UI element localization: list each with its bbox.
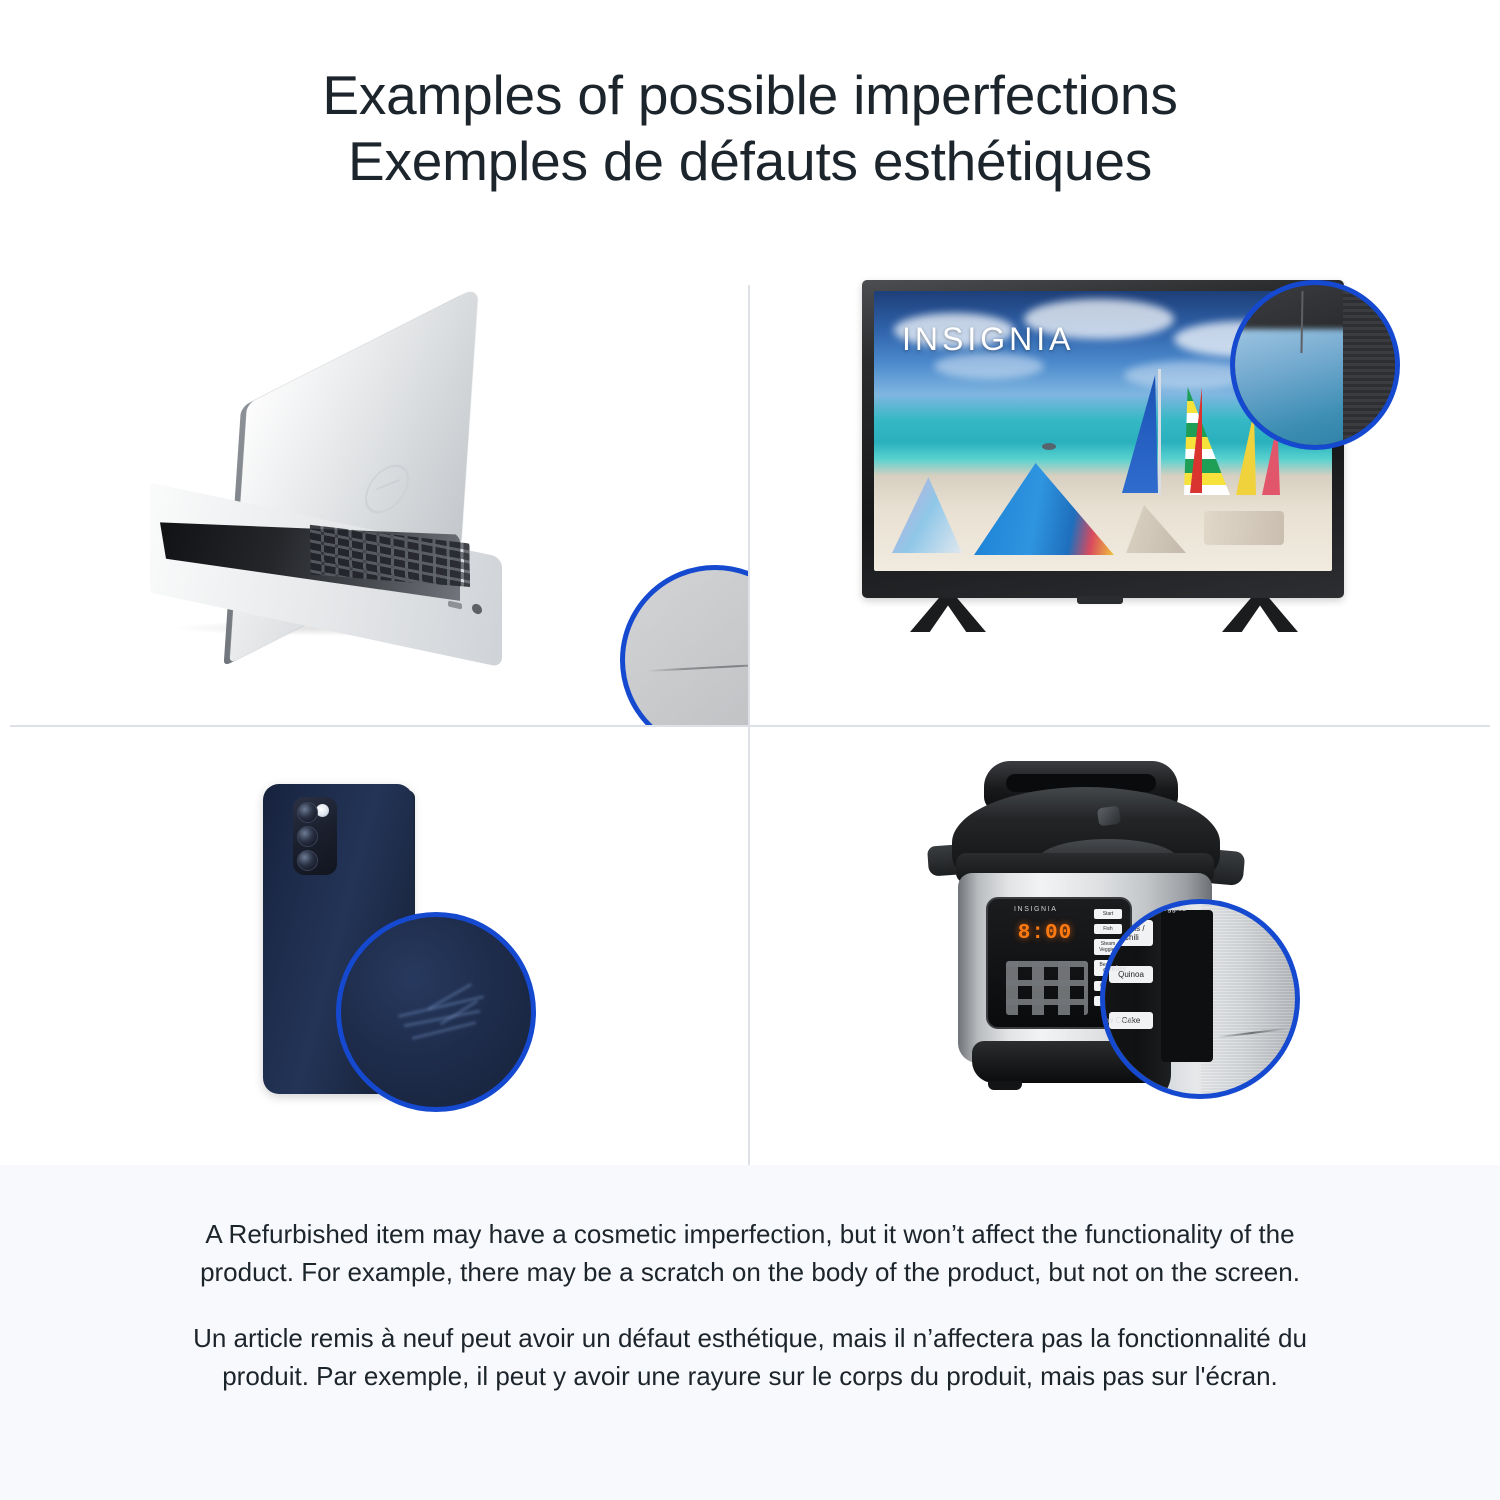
tv-magnified-screen xyxy=(1230,329,1349,450)
cooker-magnified-button[interactable]: Beans / Chili xyxy=(1109,920,1153,946)
cooker-pressure-valve-icon xyxy=(1097,806,1121,827)
page-title-en: Examples of possible imperfections xyxy=(322,62,1177,128)
page-title-fr: Exemples de défauts esthétiques xyxy=(348,128,1152,194)
phone-camera-lens xyxy=(297,802,318,823)
tv-illustration: INSIGNIA xyxy=(862,280,1362,660)
magnifier-circle-phone xyxy=(336,912,536,1112)
phone-illustration xyxy=(243,784,503,1114)
example-tile-cooker: INSIGNIA 8:00 Start Fish Steam Veggies B… xyxy=(752,729,1500,1165)
example-tile-tv: INSIGNIA xyxy=(752,250,1500,725)
magnifier-circle-cooker: Beans / Chili Quinoa Cake Veggies Delay … xyxy=(1100,899,1300,1099)
cooker-illustration: INSIGNIA 8:00 Start Fish Steam Veggies B… xyxy=(922,749,1282,1119)
description-paragraph-fr: Un article remis à neuf peut avoir un dé… xyxy=(185,1319,1315,1395)
tv-beach-object xyxy=(1126,505,1186,553)
magnifier-circle-laptop xyxy=(620,565,748,725)
cooker-brand-text: INSIGNIA xyxy=(1014,906,1058,913)
cooker-foot xyxy=(988,1081,1022,1090)
example-tile-laptop xyxy=(0,250,748,725)
cooker-magnified-button-strip xyxy=(1161,910,1213,1062)
tv-sail-blue xyxy=(1122,375,1158,493)
phone-camera-module xyxy=(293,797,337,875)
cooker-magnified-brushed-steel xyxy=(1201,904,1300,1099)
page-header: Examples of possible imperfections Exemp… xyxy=(0,0,1500,250)
cooker-magnified-label: Veggies xyxy=(1149,904,1195,913)
cooker-button-grid xyxy=(1006,961,1088,1015)
tv-stand-foot-right xyxy=(1222,598,1298,632)
tv-tent-left xyxy=(892,477,962,553)
grid-divider-horizontal xyxy=(10,725,1490,727)
tv-horizon-boat xyxy=(1042,443,1056,450)
infographic-page: Examples of possible imperfections Exemp… xyxy=(0,0,1500,1500)
cooker-magnified-label: Delay xyxy=(1100,964,1139,973)
phone-camera-lens xyxy=(297,850,318,871)
tv-magnified-bezel-corner xyxy=(1343,291,1400,450)
description-paragraph-en: A Refurbished item may have a cosmetic i… xyxy=(185,1215,1315,1291)
tv-logo-badge xyxy=(1077,596,1123,604)
examples-grid: INSIGNIA xyxy=(0,250,1500,1165)
tv-screen-brand-text: INSIGNIA xyxy=(902,321,1074,358)
cooker-magnified-label: Slow Cook xyxy=(1100,1016,1143,1025)
description-footer: A Refurbished item may have a cosmetic i… xyxy=(0,1165,1500,1500)
phone-camera-lens xyxy=(297,826,318,847)
laptop-scratch-mark xyxy=(647,662,748,672)
example-tile-phone xyxy=(0,729,748,1165)
tv-stand-foot-left xyxy=(910,598,986,632)
laptop-illustration xyxy=(150,350,530,650)
magnifier-circle-tv xyxy=(1230,280,1400,450)
cooker-led-display: 8:00 xyxy=(1012,921,1078,945)
tv-mast xyxy=(1158,369,1161,495)
tv-sail-striped xyxy=(1184,387,1230,495)
tv-tent-center xyxy=(974,463,1114,555)
tv-beach-object xyxy=(1204,511,1284,545)
